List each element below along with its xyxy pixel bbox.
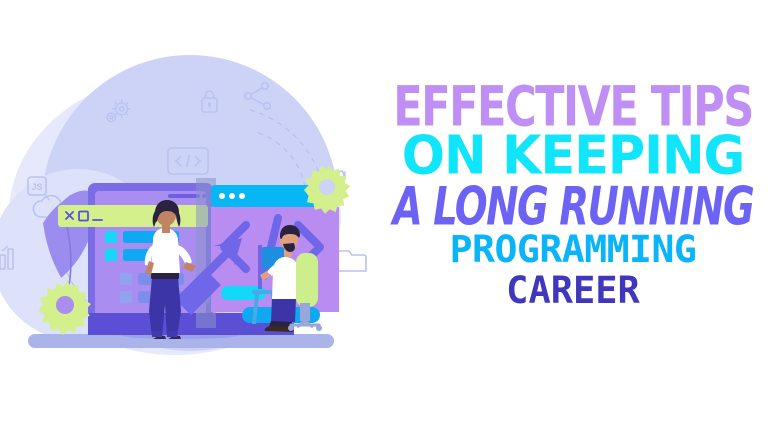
- headline-line-2: ON KEEPING: [366, 131, 768, 180]
- poster-canvas: JS: [0, 0, 768, 432]
- headline-line-3: A LONG RUNNING: [378, 184, 768, 232]
- headline-block: EFFECTIVE TIPS ON KEEPING A LONG RUNNING…: [378, 82, 768, 347]
- folder-icon: [338, 251, 366, 271]
- svg-text:JS: JS: [31, 182, 42, 192]
- terminal-bar: [58, 205, 208, 227]
- headline-line-5: CAREER: [378, 274, 768, 308]
- hero-illustration: JS: [0, 55, 375, 360]
- window-dot: [219, 193, 225, 199]
- list-bullet: [105, 231, 117, 243]
- headline-line-4: PROGRAMMING: [372, 233, 768, 267]
